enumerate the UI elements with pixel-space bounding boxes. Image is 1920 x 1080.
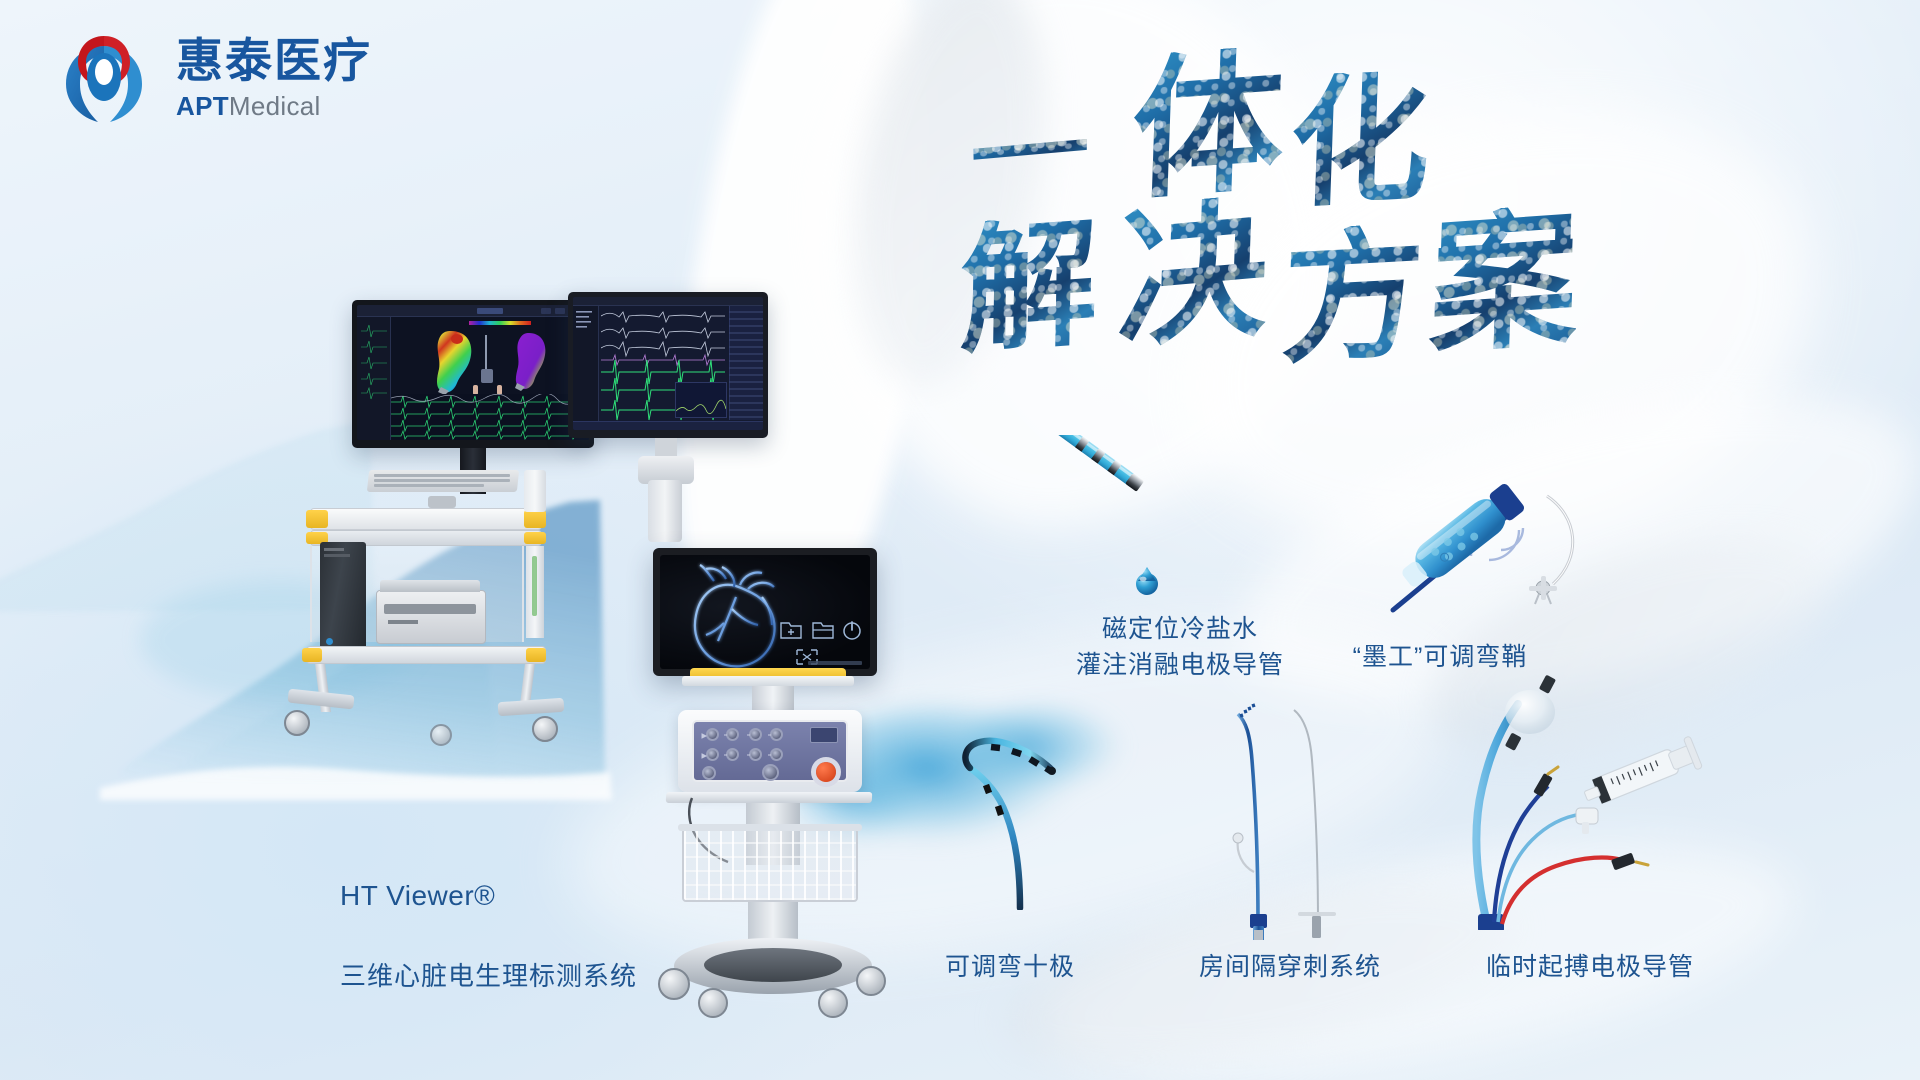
temporary-pacing-catheter-image	[1450, 670, 1750, 930]
ht-viewer-label: HT Viewer® 三维心脏电生理标测系统	[340, 840, 637, 1030]
basket-rim	[678, 824, 862, 831]
cart-accent-bar	[524, 510, 546, 528]
storage-basket[interactable]	[682, 828, 858, 902]
open-case-folder-icon[interactable]	[810, 617, 836, 643]
decapolar-catheter-label: 可调弯十极	[880, 950, 1140, 986]
cart-top-deck	[310, 508, 542, 530]
cart-foot	[498, 698, 565, 717]
mouse[interactable]	[428, 496, 456, 508]
headline-char: 方	[1280, 222, 1427, 372]
headline-char: 解	[959, 213, 1099, 361]
trolley-base-inner	[704, 948, 842, 982]
cart-status-strip	[532, 556, 537, 616]
ep-device-trolley[interactable]	[660, 676, 890, 1036]
ablation-catheter-label: 磁定位冷盐水 灌注消融电极导管	[1020, 612, 1340, 683]
brand-name-cn: 惠泰医疗	[176, 37, 372, 84]
apt-medical-heart-logo-icon	[48, 22, 160, 134]
computer-tower	[320, 542, 366, 650]
ablation-catheter-image	[975, 435, 1185, 605]
cart-column	[524, 470, 546, 512]
caster-wheel	[698, 988, 728, 1018]
printer-paper-tray	[380, 580, 480, 592]
ht-viewer-product-name: HT Viewer®	[340, 876, 637, 916]
caster-wheel	[430, 724, 452, 746]
monitor-arm	[655, 438, 677, 458]
ht-viewer-cart[interactable]	[310, 470, 610, 800]
3d-mapping-screen	[357, 305, 589, 440]
printer[interactable]	[376, 590, 486, 644]
brand-name-en-bold: APT	[176, 91, 229, 121]
connector-panel[interactable]	[692, 720, 848, 782]
cart-lower-deck	[306, 646, 546, 664]
cart-accent-bar	[302, 648, 322, 662]
headline-char: 一	[969, 101, 1090, 208]
brand-logo[interactable]: 惠泰医疗 APTMedical	[48, 22, 372, 134]
cart-accent-bar	[526, 648, 546, 662]
transseptal-system-label: 房间隔穿刺系统	[1160, 950, 1420, 986]
steerable-sheath-image	[1385, 438, 1655, 638]
cart-accent-bar	[524, 532, 546, 544]
power-icon[interactable]	[840, 617, 864, 643]
ht-viewer-product-desc: 三维心脏电生理标测系统	[340, 958, 637, 995]
caster-wheel	[818, 988, 848, 1018]
ecg-recording-screen	[573, 297, 763, 430]
caster-wheel	[532, 716, 558, 742]
poster-canvas: 惠泰医疗 APTMedical 一 体 化 解 决 方 案	[0, 0, 1920, 1080]
power-led	[326, 638, 333, 645]
headline-char: 化	[1288, 68, 1433, 216]
decapolar-catheter-image	[928, 710, 1108, 910]
mapping-monitor[interactable]	[352, 300, 594, 448]
headline-char: 案	[1428, 202, 1581, 361]
device-display-monitor[interactable]	[653, 548, 877, 676]
printer-slot	[384, 604, 476, 614]
cart-accent-bar	[306, 510, 328, 528]
trolley-tray	[682, 676, 854, 686]
screen-watermark	[808, 661, 862, 665]
ecg-monitor[interactable]	[568, 292, 768, 438]
brand-name-en: APTMedical	[176, 93, 372, 119]
heart-visualization-screen	[660, 555, 870, 669]
monitor-arm-column	[648, 480, 682, 542]
headline-calligraphy: 一 体 化 解 决 方 案	[960, 50, 1680, 350]
transseptal-system-image	[1200, 690, 1370, 940]
headline-char: 决	[1116, 193, 1271, 357]
brand-name-en-light: Medical	[229, 91, 321, 121]
caster-wheel	[284, 710, 310, 736]
temporary-pacing-catheter-label: 临时起搏电极导管	[1440, 950, 1740, 986]
new-case-folder-icon[interactable]	[778, 617, 804, 643]
caster-wheel	[658, 968, 690, 1000]
